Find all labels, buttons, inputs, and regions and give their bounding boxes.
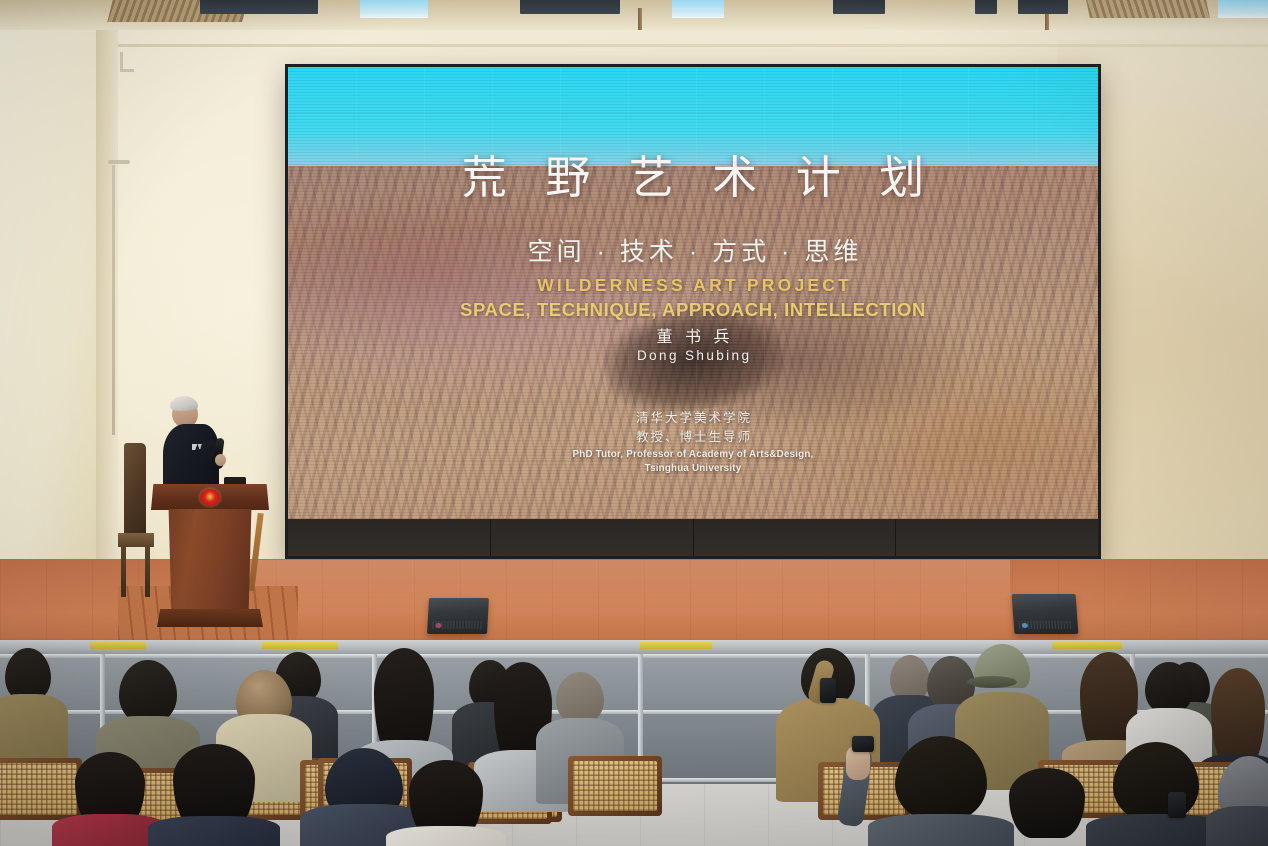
chair-leg xyxy=(121,545,126,597)
attendee-head xyxy=(895,736,987,822)
ceiling-panel-sky xyxy=(672,0,724,18)
led-lower-panel xyxy=(288,519,491,556)
wall-seam xyxy=(118,44,1268,47)
chair-leg xyxy=(145,545,150,597)
led-lower-panel xyxy=(896,519,1098,556)
attendee-torso xyxy=(386,826,506,846)
knit-hat xyxy=(1218,756,1268,812)
podium-base xyxy=(157,609,263,627)
audience-chair xyxy=(568,756,662,816)
smartphone-recording xyxy=(852,736,874,752)
wooden-beam-right xyxy=(1086,0,1210,18)
stage-monitor-left xyxy=(427,598,489,634)
chair-cane-back xyxy=(573,761,657,811)
left-pillar xyxy=(0,0,96,640)
stage-floor-highlight xyxy=(250,560,1010,642)
beanie-hat xyxy=(236,670,292,718)
warning-tape xyxy=(262,642,338,649)
ceiling-panel-sky xyxy=(360,0,428,18)
national-emblem-icon xyxy=(200,489,220,506)
slide-subtitle-english-2: SPACE, TECHNIQUE, APPROACH, INTELLECTION xyxy=(288,299,1098,321)
slide-affiliation-chinese-1: 清华大学美术学院 xyxy=(288,407,1098,426)
presenter-hair xyxy=(170,396,198,411)
ceiling-panel-sky xyxy=(1218,0,1268,18)
podium-body xyxy=(164,509,256,611)
list-item xyxy=(1086,742,1226,846)
led-lower-panel xyxy=(694,519,897,556)
attendee-long-hair xyxy=(1009,768,1085,838)
slide-affiliation-chinese-2: 教授、博士生导师 xyxy=(288,426,1098,445)
ceiling-panel-dark xyxy=(833,0,885,14)
attendee-torso xyxy=(1206,806,1268,846)
list-item xyxy=(386,760,506,846)
slide-subtitle-english-1: WILDERNESS ART PROJECT xyxy=(288,275,1098,296)
smartphone-recording xyxy=(1168,792,1186,818)
warning-tape xyxy=(1052,642,1122,649)
ceiling-panel-stem xyxy=(638,8,642,30)
monitor-led-indicator xyxy=(1022,623,1028,628)
list-item xyxy=(148,744,280,846)
led-presentation-screen[interactable]: 荒 野 艺 术 计 划 空间 · 技术 · 方式 · 思维 WILDERNESS… xyxy=(285,64,1101,559)
slide-affiliation-english-2: Tsinghua University xyxy=(288,463,1098,474)
cap-brim-icon xyxy=(967,676,1017,688)
led-lower-panel xyxy=(491,519,694,556)
slide-speaker-name-chinese: 董 书 兵 xyxy=(288,323,1098,347)
podium xyxy=(151,484,269,632)
stage-side-chair xyxy=(118,443,152,593)
list-item xyxy=(1206,756,1268,846)
warning-tape xyxy=(90,642,146,649)
slide-speaker-name-english: Dong Shubing xyxy=(288,348,1098,363)
slide-affiliation-english-1: PhD Tutor, Professor of Academy of Arts&… xyxy=(288,449,1098,460)
ceiling-panel-dark xyxy=(200,0,318,14)
rail-hook-icon xyxy=(108,160,130,164)
presenter-hand xyxy=(215,454,226,466)
attendee-head xyxy=(119,660,177,724)
stage-monitor-right xyxy=(1012,594,1079,634)
smartphone-recording xyxy=(820,678,836,703)
slide-title: 荒 野 艺 术 计 划 xyxy=(288,141,1098,206)
attendee-head xyxy=(1113,742,1199,822)
attendee-head xyxy=(556,672,604,724)
list-item xyxy=(0,648,68,768)
slide-background-image: 荒 野 艺 术 计 划 空间 · 技术 · 方式 · 思维 WILDERNESS… xyxy=(288,67,1098,519)
attendee-torso xyxy=(1086,814,1226,846)
presenter xyxy=(163,398,233,498)
chair-back xyxy=(124,443,146,535)
attendee-torso xyxy=(148,816,280,846)
wall-hanging-rail xyxy=(112,165,115,435)
slide-subtitle-chinese: 空间 · 技术 · 方式 · 思维 xyxy=(288,232,1098,268)
ceiling-panel-dark xyxy=(1018,0,1068,14)
wall-bracket xyxy=(120,52,134,72)
ceiling-panel-dark xyxy=(975,0,997,14)
led-wall-lower-panels xyxy=(288,519,1098,556)
lecture-hall-scene: 荒 野 艺 术 计 划 空间 · 技术 · 方式 · 思维 WILDERNESS… xyxy=(0,0,1268,846)
attendee-head xyxy=(1145,662,1193,714)
warning-tape xyxy=(640,642,712,649)
ceiling-strip xyxy=(0,0,1268,30)
ceiling-panel-dark xyxy=(520,0,620,14)
